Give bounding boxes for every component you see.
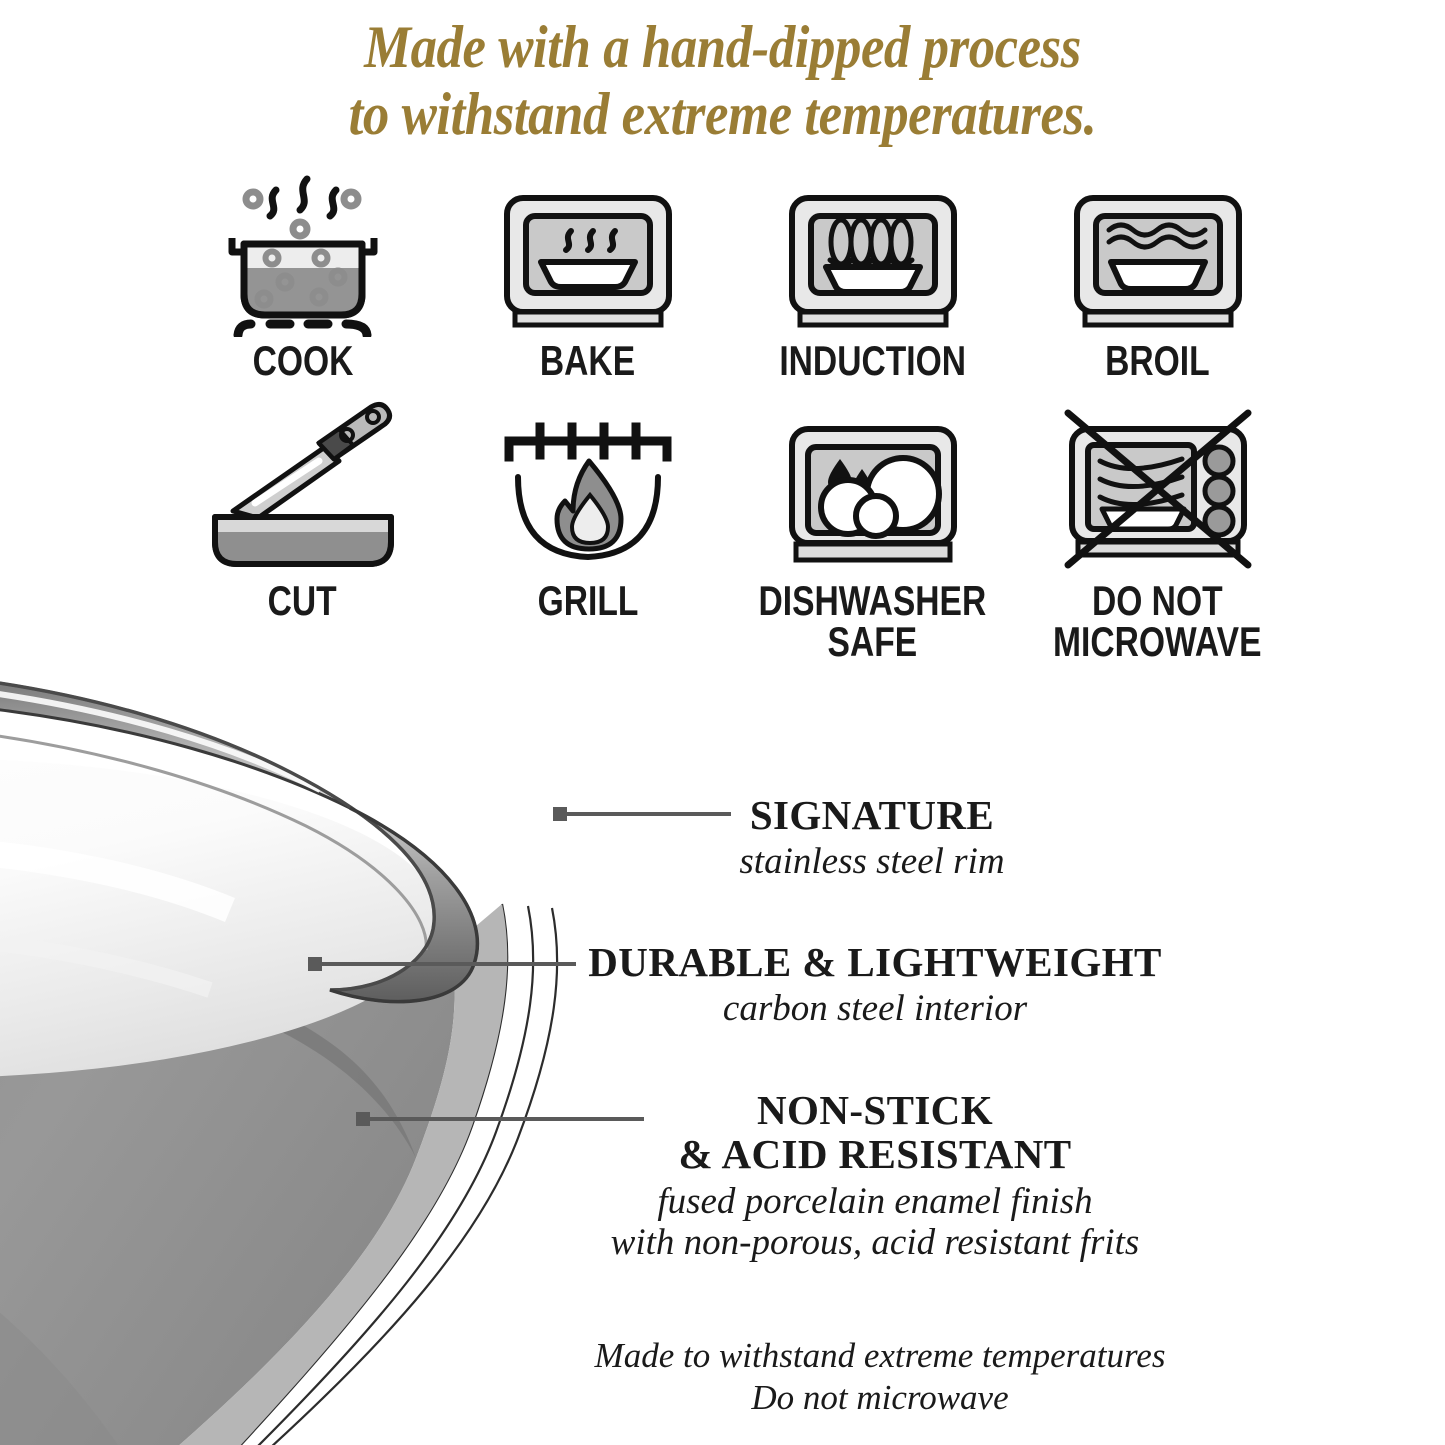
callout-durable: DURABLE & LIGHTWEIGHT carbon steel inter… — [560, 940, 1190, 1030]
do-not-microwave-icon — [1058, 399, 1258, 577]
footnote-text: Made to withstand extreme temperatures D… — [430, 1335, 1330, 1419]
callout-signature: SIGNATURE stainless steel rim — [617, 793, 1127, 883]
cook-icon — [208, 172, 398, 337]
icon-label-dishwasher-safe: DISHWASHER SAFE — [759, 581, 987, 662]
callout-nonstick: NON-STICK & ACID RESISTANT fused porcela… — [540, 1088, 1210, 1263]
headline-line-1: Made with a hand-dipped process — [87, 14, 1359, 81]
dishwasher-safe-icon — [778, 399, 968, 577]
feature-icon-grid: COOK BA — [160, 172, 1300, 662]
bake-icon — [493, 172, 683, 337]
callout-nonstick-title: NON-STICK & ACID RESISTANT — [540, 1088, 1210, 1177]
icon-cell-bake: BAKE — [445, 172, 730, 381]
icon-cell-induction: INDUCTION — [730, 172, 1015, 381]
callout-nonstick-subtitle: fused porcelain enamel finish with non-p… — [540, 1181, 1210, 1264]
callout-durable-subtitle: carbon steel interior — [560, 988, 1190, 1029]
icon-label-bake: BAKE — [540, 341, 635, 381]
callout-signature-subtitle: stainless steel rim — [617, 841, 1127, 882]
icon-cell-dishwasher-safe: DISHWASHER SAFE — [730, 399, 1015, 662]
icon-label-induction: INDUCTION — [779, 341, 966, 381]
pot-cutaway-illustration — [0, 618, 710, 1445]
callout-signature-title: SIGNATURE — [617, 793, 1127, 837]
leader-line-durable — [308, 948, 578, 978]
headline-line-2: to withstand extreme temperatures. — [87, 81, 1359, 148]
icon-label-cut: CUT — [268, 581, 337, 621]
callout-durable-title: DURABLE & LIGHTWEIGHT — [560, 940, 1190, 984]
icon-label-cook: COOK — [252, 341, 353, 381]
induction-icon — [778, 172, 968, 337]
icon-cell-cook: COOK — [160, 172, 445, 381]
icon-label-broil: BROIL — [1105, 341, 1210, 381]
icon-cell-broil: BROIL — [1015, 172, 1300, 381]
icon-cell-do-not-microwave: DO NOT MICROWAVE — [1015, 399, 1300, 662]
icon-row-1: COOK BA — [160, 172, 1300, 381]
broil-icon — [1063, 172, 1253, 337]
page-title: Made with a hand-dipped process to withs… — [87, 14, 1359, 148]
grill-icon — [493, 399, 683, 577]
icon-label-grill: GRILL — [537, 581, 638, 621]
infographic-canvas: Made with a hand-dipped process to withs… — [0, 0, 1445, 1445]
cut-icon — [203, 399, 403, 577]
icon-label-do-not-microwave: DO NOT MICROWAVE — [1053, 581, 1261, 662]
